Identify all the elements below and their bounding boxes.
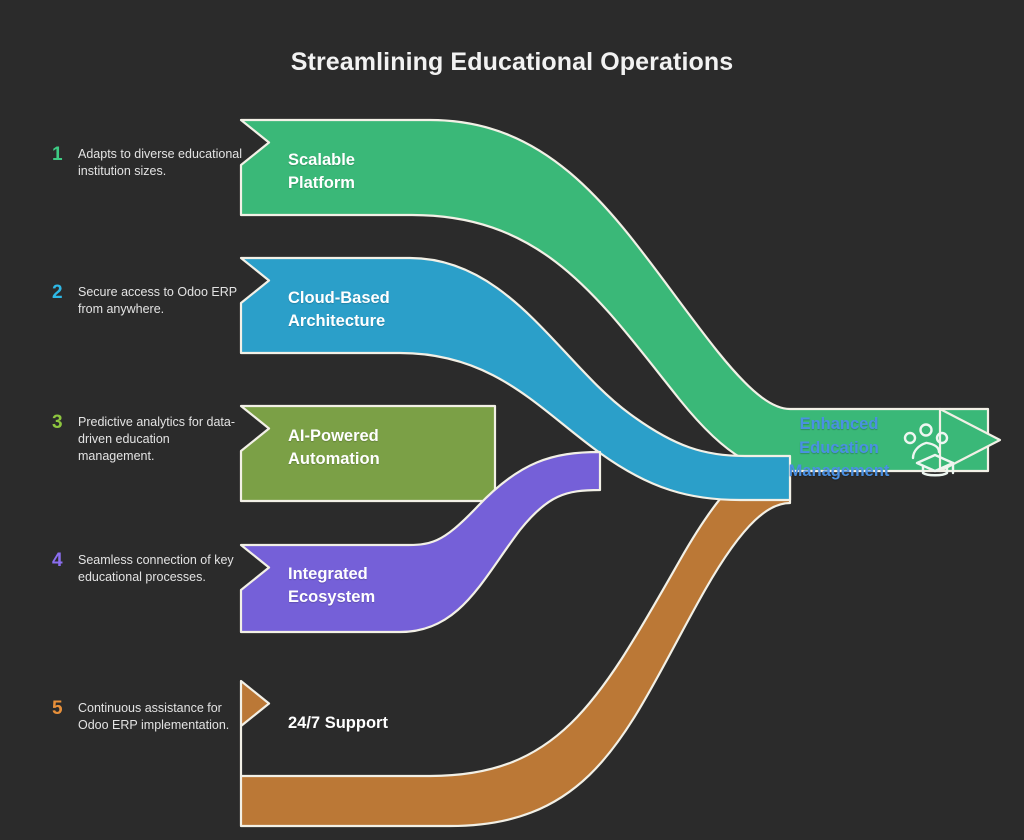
ribbon-label-cloud-based-architecture: Cloud-Based Architecture [288,287,390,333]
legend-number: 4 [52,552,78,569]
ribbon-label-ai-powered-automation: AI-Powered Automation [288,425,380,471]
legend-item: 3 Predictive analytics for data-driven e… [52,414,248,466]
legend-description: Continuous assistance for Odoo ERP imple… [78,700,248,734]
legend-item: 4 Seamless connection of key educational… [52,552,248,586]
graduation-people-icon [899,421,961,483]
legend-description: Secure access to Odoo ERP from anywhere. [78,284,248,318]
ribbon-label-support-24-7: 24/7 Support [288,712,388,735]
legend-description: Seamless connection of key educational p… [78,552,248,586]
output-label: Enhanced Education Management [772,413,906,484]
ribbon-label-scalable-platform: Scalable Platform [288,149,355,195]
legend-item: 5 Continuous assistance for Odoo ERP imp… [52,700,248,734]
legend-description: Predictive analytics for data-driven edu… [78,414,248,466]
legend-item: 1 Adapts to diverse educational institut… [52,146,248,180]
legend-item: 2 Secure access to Odoo ERP from anywher… [52,284,248,318]
legend-description: Adapts to diverse educational institutio… [78,146,248,180]
ribbon-label-integrated-ecosystem: Integrated Ecosystem [288,563,375,609]
legend-number: 5 [52,700,78,717]
legend-number: 1 [52,146,78,163]
infographic-canvas: Streamlining Educational Operations 1 Ad… [0,0,1024,840]
legend-number: 3 [52,414,78,431]
legend-number: 2 [52,284,78,301]
